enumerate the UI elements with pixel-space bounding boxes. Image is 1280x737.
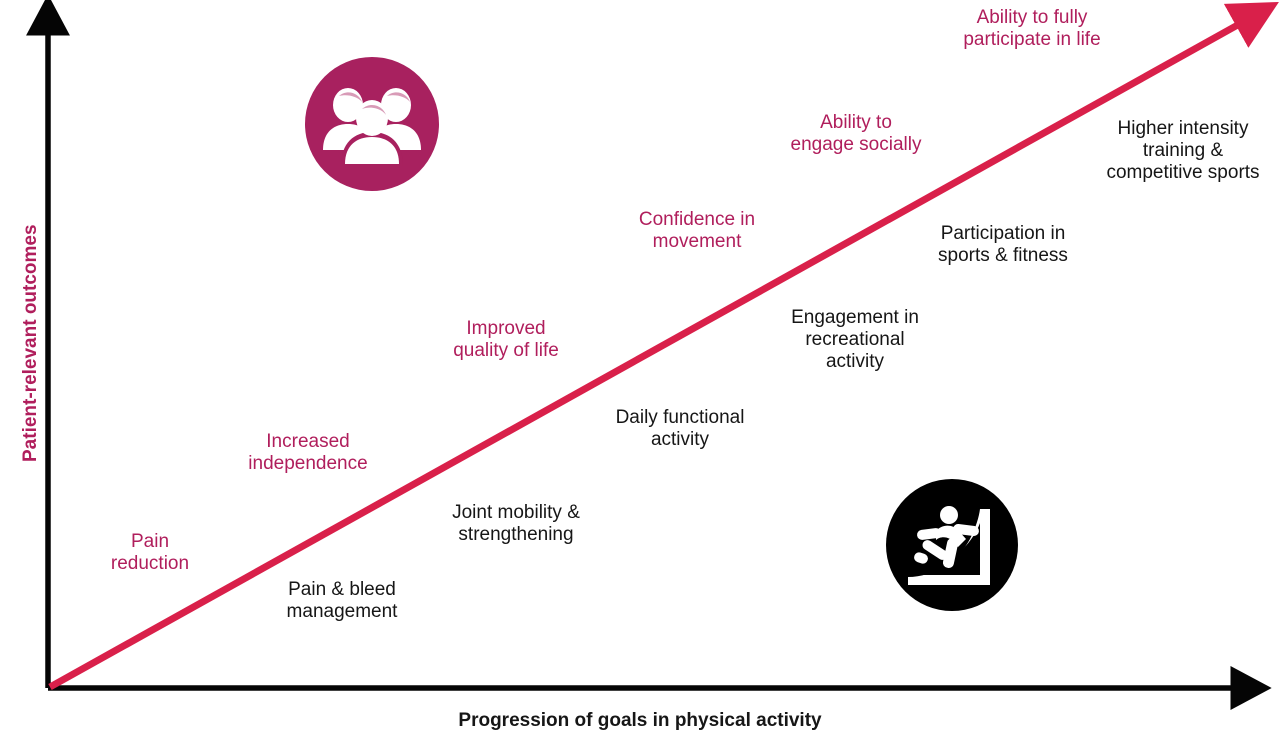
label-pain-reduction: Pain reduction [60, 531, 240, 575]
label-higher-intensity-training-and-competitive-sports: Higher intensity training & competitive … [1063, 118, 1280, 185]
x-axis-title: Progression of goals in physical activit… [0, 710, 1280, 733]
progression-of-goals-figure: Patient-relevant outcomes Progression of… [0, 0, 1280, 737]
label-engagement-in-recreational-activity: Engagement in recreational activity [755, 307, 955, 374]
label-joint-mobility-and-strengthening: Joint mobility & strengthening [411, 502, 621, 546]
trend-arrow [0, 0, 1280, 737]
people-group-icon [305, 57, 439, 191]
label-daily-functional-activity: Daily functional activity [575, 407, 785, 451]
y-axis-title: Patient-relevant outcomes [20, 224, 43, 462]
label-increased-independence: Increased independence [208, 431, 408, 475]
label-pain-and-bleed-management: Pain & bleed management [237, 579, 447, 623]
label-confidence-in-movement: Confidence in movement [592, 209, 802, 253]
label-improved-quality-of-life: Improved quality of life [401, 318, 611, 362]
runner-foot [913, 551, 929, 565]
label-ability-to-engage-socially: Ability to engage socially [751, 112, 961, 156]
runner-head [940, 506, 958, 524]
climbing-person-icon [886, 479, 1018, 611]
label-participation-in-sports-and-fitness: Participation in sports & fitness [893, 223, 1113, 267]
label-ability-to-fully-participate-in-life: Ability to fully participate in life [917, 7, 1147, 51]
